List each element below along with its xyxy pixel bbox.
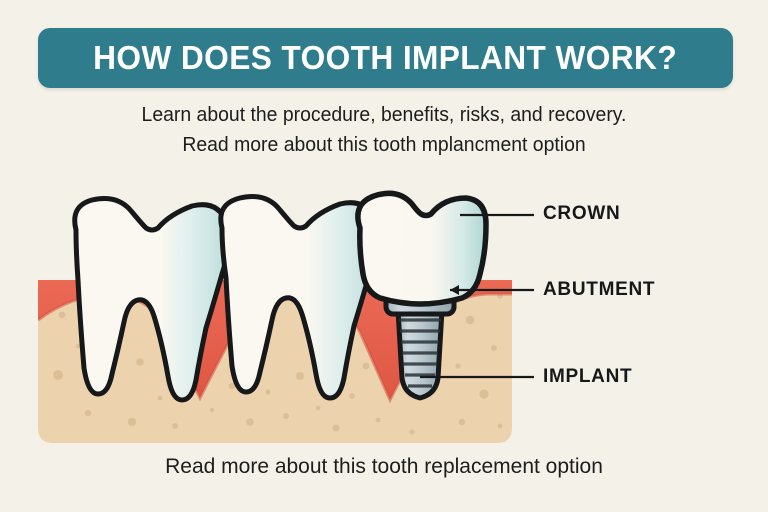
- title-banner: HOW DOES TOOTH IMPLANT WORK?: [38, 28, 733, 88]
- infographic-page: HOW DOES TOOTH IMPLANT WORK? Learn about…: [0, 0, 768, 512]
- callout-label-abutment: ABUTMENT: [543, 279, 655, 301]
- subtitle-line-1: Learn about the procedure, benefits, ris…: [12, 100, 757, 130]
- subtitle-block: Learn about the procedure, benefits, ris…: [0, 100, 768, 160]
- implant-screw-threads: [398, 310, 442, 398]
- callout-label-crown: CROWN: [543, 203, 620, 225]
- page-title: HOW DOES TOOTH IMPLANT WORK?: [94, 39, 678, 77]
- dental-implant-illustration: [0, 170, 768, 455]
- subtitle-line-2: Read more about this tooth mplancment op…: [12, 130, 757, 160]
- implant-crown: [358, 193, 486, 304]
- footer-caption: Read more about this tooth replacement o…: [0, 455, 768, 479]
- callout-label-implant: IMPLANT: [543, 366, 632, 388]
- dental-cross-section-svg: [0, 170, 768, 455]
